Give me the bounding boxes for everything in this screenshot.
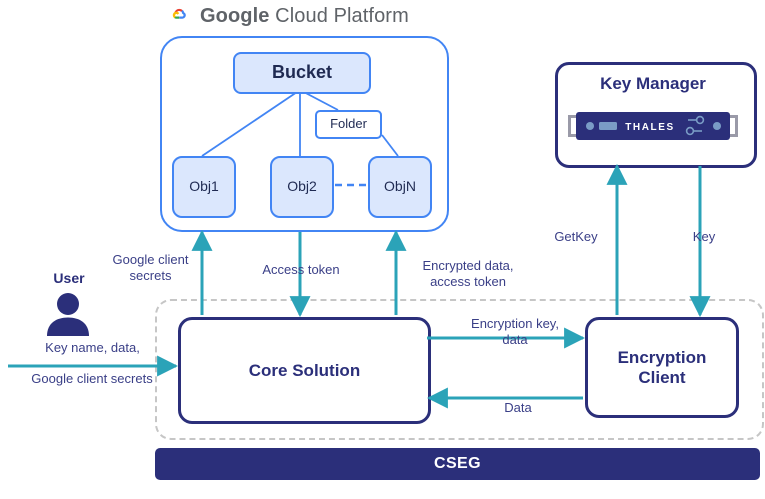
gcp-brand-header: Google Cloud Platform [165, 2, 415, 30]
core-solution-node[interactable]: Core Solution [178, 317, 431, 424]
edge-label-encryption-key-data-l1: Encryption key, [471, 316, 559, 331]
objects-ellipsis-dashes [334, 178, 368, 192]
bucket-node[interactable]: Bucket [233, 52, 371, 94]
edge-label-encrypted-data-l2: access token [430, 274, 506, 289]
edge-label-getkey: GetKey [540, 229, 612, 245]
edge-label-encrypted-data: Encrypted data, access token [398, 258, 538, 291]
encryption-client-line2: Client [638, 368, 685, 387]
edge-label-key-name-data: Key name, data, [10, 340, 175, 356]
edge-label-google-client-secrets-l2: secrets [130, 268, 172, 283]
user-person-icon [44, 292, 92, 336]
edge-label-encrypted-data-l1: Encrypted data, [422, 258, 513, 273]
encryption-client-line1: Encryption [618, 348, 707, 367]
edge-label-google-client-secrets-input: Google client secrets [2, 371, 182, 387]
edge-label-data: Data [448, 400, 588, 416]
svg-text:THALES: THALES [625, 122, 675, 133]
object-node-obj2[interactable]: Obj2 [270, 156, 334, 218]
user-label: User [34, 270, 104, 286]
object-node-obj1[interactable]: Obj1 [172, 156, 236, 218]
edge-label-encryption-key-data-l2: data [502, 332, 527, 347]
gcp-wordmark-rest: Cloud Platform [270, 5, 409, 27]
object-node-objn[interactable]: ObjN [368, 156, 432, 218]
edge-label-access-token: Access token [240, 262, 362, 278]
thales-hsm-appliance-icon: THALES [568, 112, 738, 140]
google-cloud-logo-icon [165, 4, 191, 28]
cseg-footer-bar: CSEG [155, 448, 760, 480]
encryption-client-node[interactable]: Encryption Client [585, 317, 739, 418]
key-manager-title: Key Manager [555, 74, 751, 94]
edge-label-key: Key [678, 229, 730, 245]
folder-node[interactable]: Folder [315, 110, 382, 139]
gcp-wordmark-google: Google [200, 5, 270, 27]
edge-label-google-client-secrets-l1: Google client [113, 252, 189, 267]
encryption-client-label: Encryption Client [618, 348, 707, 387]
edge-label-encryption-key-data: Encryption key, data [440, 316, 590, 349]
edge-label-google-client-secrets: Google client secrets [98, 252, 203, 285]
gcp-wordmark: Google Cloud Platform [200, 5, 409, 28]
